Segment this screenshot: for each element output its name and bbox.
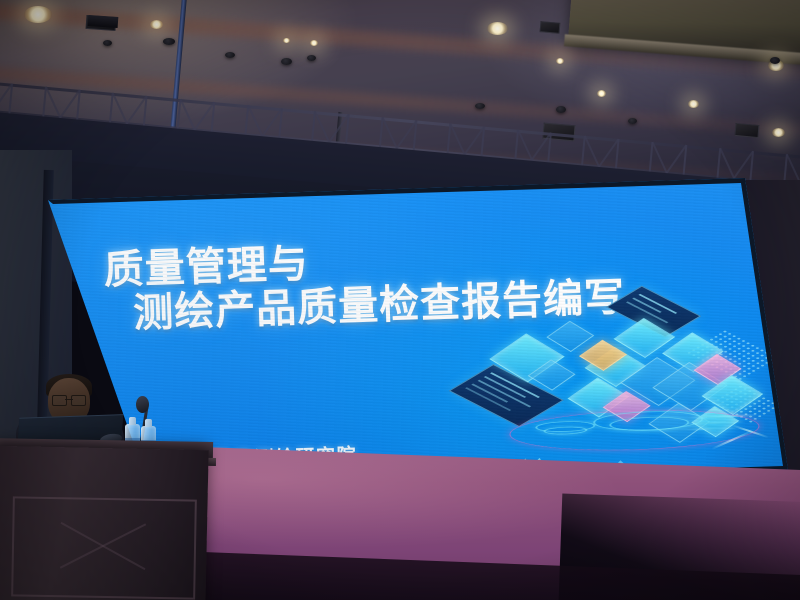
ceiling-light-fixture [628, 118, 637, 124]
ceiling-light-fixture [163, 38, 175, 45]
ceiling-spotlight [310, 40, 318, 46]
ceiling-spotlight [597, 90, 606, 97]
ceiling-light-fixture [103, 40, 112, 46]
ceiling-light-fixture [307, 55, 316, 61]
ceiling-light-fixture [281, 58, 292, 65]
ceiling-spotlight [150, 20, 163, 29]
microphone-head [136, 396, 149, 413]
ceiling-spotlight [556, 58, 564, 64]
data-cube [546, 321, 594, 352]
ceiling-light-fixture [556, 106, 566, 113]
ceiling-spotlight [772, 128, 785, 137]
hud-ring [509, 407, 760, 454]
presenter-glasses [52, 395, 86, 404]
ceiling-light-fixture [225, 52, 235, 58]
ceiling-spotlight [487, 22, 508, 35]
ceiling-vent [734, 123, 759, 138]
hanging-pole-mount [88, 15, 119, 28]
glasses-lens-right [71, 395, 86, 406]
ceiling-spotlight [283, 38, 290, 43]
glasses-lens-left [52, 395, 67, 406]
ceiling-light-fixture [475, 103, 485, 109]
ceiling-spotlight [688, 100, 699, 108]
ceiling-light-fixture [770, 57, 780, 64]
podium-panel-diagonal [11, 496, 193, 595]
ceiling-spotlight [24, 6, 52, 23]
ceiling-vent [540, 21, 561, 34]
conference-photo-scene: 质量管理与 测绘产品质量检查报告编写 济南市勘察测绘研究院 杜洪涛 2023.4 [0, 0, 800, 600]
glasses-bridge [65, 399, 73, 400]
